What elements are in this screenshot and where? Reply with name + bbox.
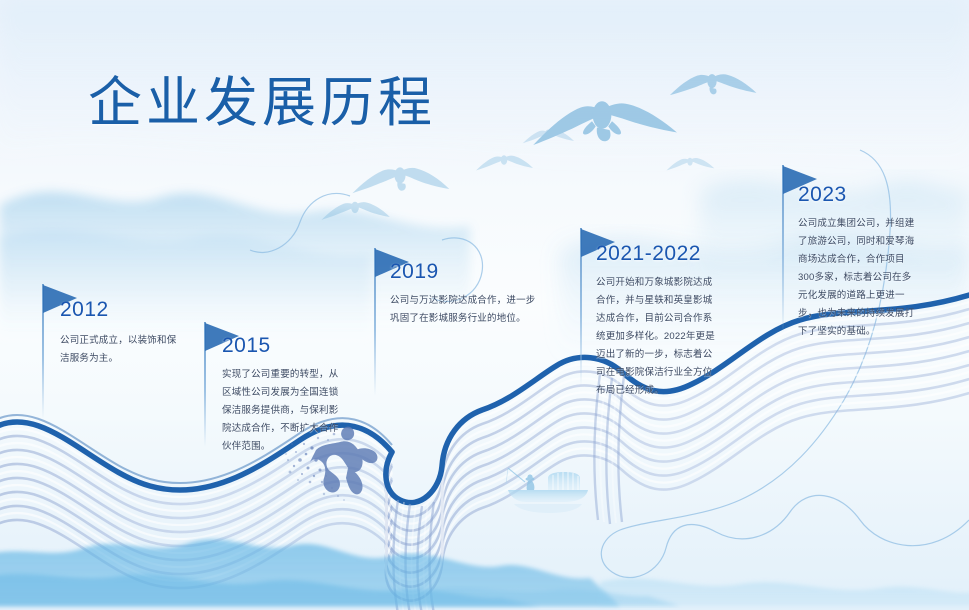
ribbon-fold-strands [394, 500, 435, 610]
milestone-description: 公司成立集团公司，并组建了旅游公司，同时和爱琴海商场达成合作，合作项目300多家… [798, 215, 916, 341]
milestone-description: 公司与万达影院达成合作，进一步巩固了在影城服务行业的地位。 [390, 292, 538, 328]
timeline-poster: 2012 公司正式成立，以装饰和保洁服务为主。 2015 实现了公司重要的转型，… [0, 0, 969, 610]
page-title: 企业发展历程 [88, 58, 436, 137]
fishing-boat-icon [500, 462, 600, 518]
milestone-description: 实现了公司重要的转型，从区域性公司发展为全国连锁保洁服务提供商，与保利影院达成合… [222, 366, 344, 456]
milestone-year: 2019 [390, 260, 439, 284]
milestone-description: 公司开始和万象城影院达成合作，并与星轶和英皇影城达成合作，目前公司合作系统更加多… [596, 274, 720, 400]
milestone-year: 2023 [798, 183, 847, 207]
milestone-year: 2021-2022 [596, 242, 701, 266]
milestone-description: 公司正式成立，以装饰和保洁服务为主。 [60, 332, 180, 368]
milestone-year: 2012 [60, 298, 109, 322]
milestone-year: 2015 [222, 334, 271, 358]
